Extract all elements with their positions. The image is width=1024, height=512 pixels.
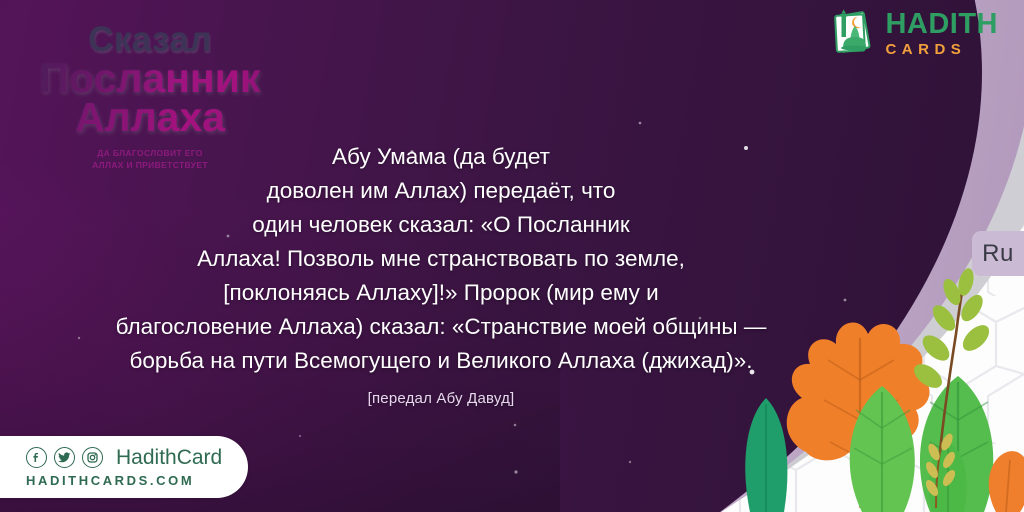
headline-line-1: Сказал — [0, 22, 300, 58]
hadith-quote-text: Абу Умама (да будет доволен им Аллах) пе… — [86, 140, 796, 378]
facebook-icon[interactable] — [26, 447, 47, 468]
quote-line: один человек сказал: «О Посланник — [86, 208, 796, 242]
twitter-icon[interactable] — [54, 447, 75, 468]
quote-line: благословение Аллаха) сказал: «Странстви… — [86, 310, 796, 344]
hadith-source-attribution: [передал Абу Давуд] — [86, 390, 796, 407]
logo-word-cards: CARDS — [885, 42, 998, 57]
green-bud-leaf — [929, 442, 967, 512]
hadith-card: Сказал Посланник Аллаха ДА БЛАГОСЛОВИТ Е… — [0, 0, 1024, 512]
olive-sprig-small — [923, 432, 957, 508]
green-leaf-right — [920, 376, 993, 512]
footer-website-url[interactable]: HADITHCARDS.COM — [26, 473, 222, 488]
brand-logo[interactable]: HADITH CARDS — [828, 8, 998, 58]
headline-line-2: Посланник — [0, 58, 300, 99]
instagram-icon[interactable] — [82, 447, 103, 468]
quote-line: Аллаха! Позволь мне странствовать по зем… — [86, 242, 796, 276]
quote-line: [поклоняясь Аллаху]!» Пророк (мир ему и — [86, 276, 796, 310]
logo-word-hadith: HADITH — [885, 10, 998, 39]
quote-line: борьба на пути Всемогущего и Великого Ал… — [86, 344, 796, 378]
quote-line: Абу Умама (да будет — [86, 140, 796, 174]
logo-wordmark: HADITH CARDS — [885, 10, 998, 57]
footer-brand-pill[interactable]: HadithCard HADITHCARDS.COM — [0, 436, 248, 498]
mosque-cards-icon — [828, 8, 878, 58]
language-badge-ru[interactable]: Ru — [972, 231, 1024, 276]
footer-social-row: HadithCard — [26, 447, 222, 468]
orange-leaf-right — [989, 451, 1024, 512]
quote-line: доволен им Аллах) передаёт, что — [86, 174, 796, 208]
footer-brand-name: HadithCard — [116, 447, 222, 468]
headline-line-3: Аллаха — [0, 97, 300, 138]
